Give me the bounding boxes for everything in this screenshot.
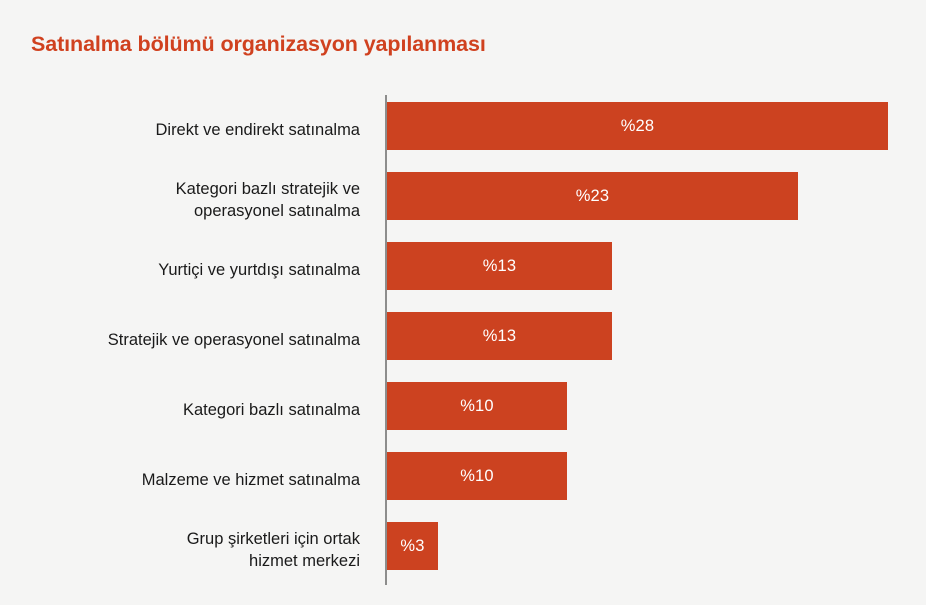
bar-row: Kategori bazlı stratejik ve operasyonel …	[0, 165, 926, 235]
category-label: Stratejik ve operasyonel satınalma	[20, 305, 360, 375]
bar-value-label: %3	[400, 537, 424, 556]
page-title: Satınalma bölümü organizasyon yapılanmas…	[31, 32, 486, 57]
bar-container: %23	[387, 172, 798, 220]
bar-segment: %28	[387, 102, 888, 150]
bar-row: Stratejik ve operasyonel satınalma %13	[0, 305, 926, 375]
bar-segment: %13	[387, 312, 612, 360]
bar-value-label: %23	[576, 187, 610, 206]
category-label-line1: Kategori bazlı satınalma	[183, 399, 360, 421]
bar-row: Direkt ve endirekt satınalma %28	[0, 95, 926, 165]
bar-segment: %10	[387, 382, 567, 430]
bar-container: %10	[387, 382, 567, 430]
category-label-line1: Stratejik ve operasyonel satınalma	[108, 329, 360, 351]
bar-value-label: %13	[483, 257, 517, 276]
bar-row: Yurtiçi ve yurtdışı satınalma %13	[0, 235, 926, 305]
bar-row: Kategori bazlı satınalma %10	[0, 375, 926, 445]
bar-container: %13	[387, 312, 612, 360]
bar-container: %3	[387, 522, 438, 570]
category-label-line1: Malzeme ve hizmet satınalma	[142, 469, 360, 491]
category-label: Grup şirketleri için ortak hizmet merkez…	[20, 515, 360, 585]
bar-segment: %3	[387, 522, 438, 570]
bar-segment: %13	[387, 242, 612, 290]
category-label-text: Kategori bazlı stratejik ve operasyonel …	[176, 178, 360, 223]
category-label-line2: operasyonel satınalma	[194, 202, 360, 220]
category-label: Direkt ve endirekt satınalma	[20, 95, 360, 165]
bar-value-label: %10	[460, 397, 494, 416]
category-label-text: Grup şirketleri için ortak hizmet merkez…	[187, 528, 360, 573]
category-label: Kategori bazlı stratejik ve operasyonel …	[20, 165, 360, 235]
bar-chart-plot-area: Direkt ve endirekt satınalma %28 Kategor…	[0, 95, 926, 590]
bar-rows: Direkt ve endirekt satınalma %28 Kategor…	[0, 95, 926, 585]
category-label: Kategori bazlı satınalma	[20, 375, 360, 445]
bar-value-label: %28	[621, 117, 655, 136]
category-label-line1: Direkt ve endirekt satınalma	[155, 119, 360, 141]
category-label-line1: Yurtiçi ve yurtdışı satınalma	[158, 259, 360, 281]
bar-container: %13	[387, 242, 612, 290]
bar-value-label: %13	[483, 327, 517, 346]
bar-row: Grup şirketleri için ortak hizmet merkez…	[0, 515, 926, 585]
bar-container: %10	[387, 452, 567, 500]
bar-container: %28	[387, 102, 888, 150]
bar-value-label: %10	[460, 467, 494, 486]
category-label: Malzeme ve hizmet satınalma	[20, 445, 360, 515]
category-label-line2: hizmet merkezi	[249, 552, 360, 570]
chart-page: Satınalma bölümü organizasyon yapılanmas…	[0, 0, 926, 605]
category-label-line1: Kategori bazlı stratejik ve	[176, 180, 360, 198]
bar-segment: %23	[387, 172, 798, 220]
bar-row: Malzeme ve hizmet satınalma %10	[0, 445, 926, 515]
bar-segment: %10	[387, 452, 567, 500]
category-label: Yurtiçi ve yurtdışı satınalma	[20, 235, 360, 305]
category-label-line1: Grup şirketleri için ortak	[187, 530, 360, 548]
